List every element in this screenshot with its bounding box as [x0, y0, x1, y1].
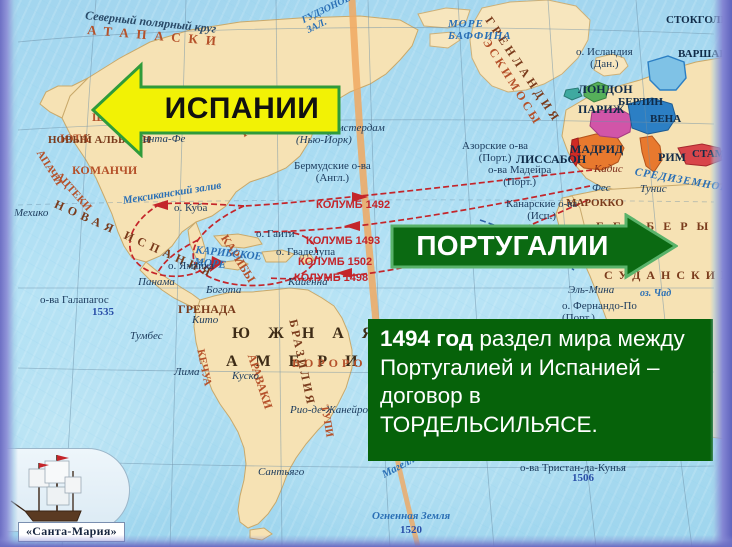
arrow-portugal-label: ПОРТУГАЛИИ [400, 221, 625, 271]
santa-maria-frame [6, 448, 130, 532]
santa-maria-ship-icon [7, 449, 129, 531]
right-edge-vignette [710, 0, 732, 547]
slide-root: Северный полярный круг 30° А М Е Р И К А… [0, 0, 732, 547]
santa-maria-inset: «Санта-Мария» [6, 448, 128, 547]
bottom-edge-vignette [0, 535, 732, 547]
caption-box: 1494 год раздел мира между Португалией и… [368, 319, 713, 461]
left-edge-vignette [0, 0, 18, 547]
arrow-spain-label: ИСПАНИИ [147, 83, 337, 135]
caption-bold-lead: 1494 год [380, 326, 473, 351]
arrow-portugal[interactable]: ПОРТУГАЛИИ [390, 213, 678, 280]
arrow-spain[interactable]: ИСПАНИИ [91, 61, 341, 158]
